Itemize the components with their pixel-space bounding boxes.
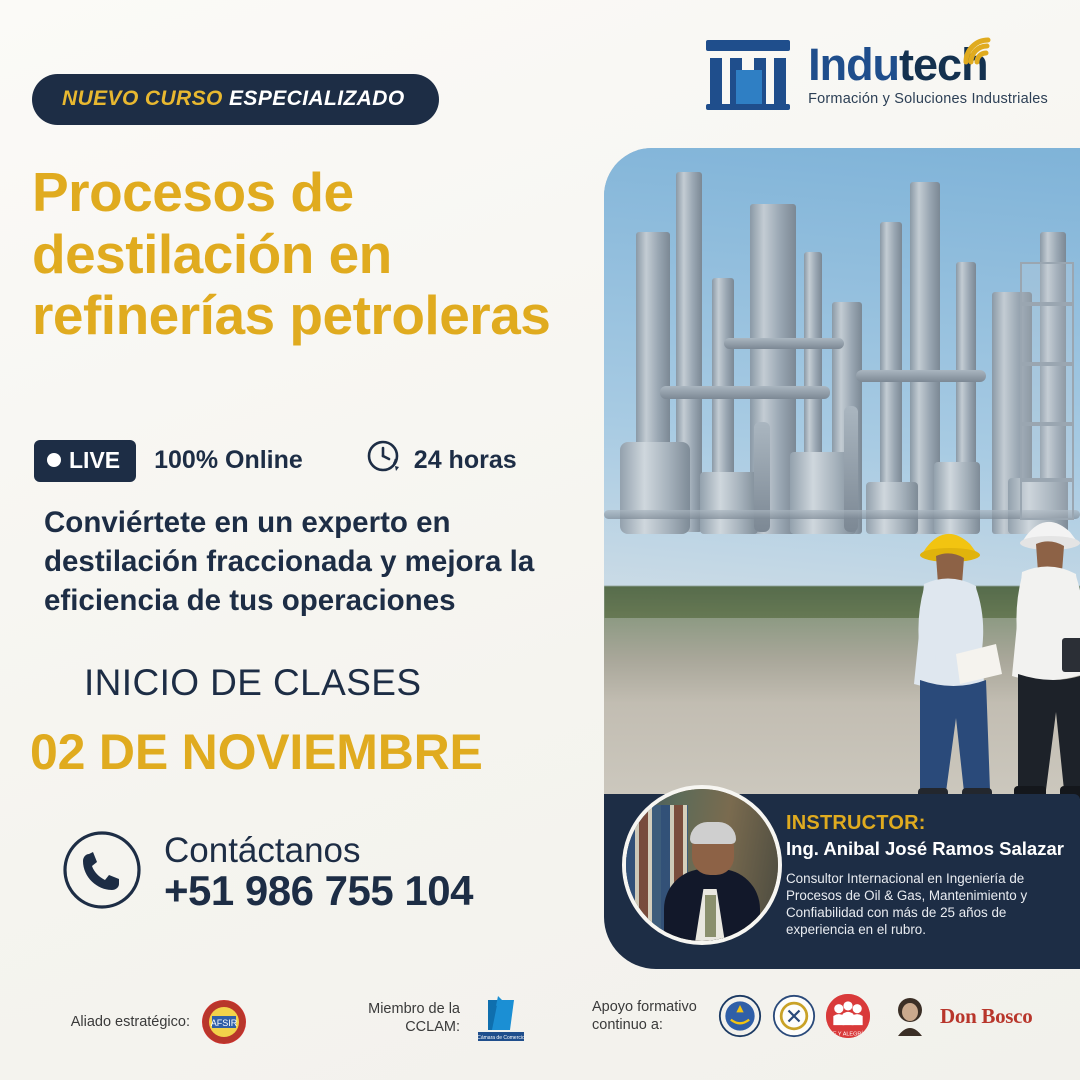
footer-group-ally: Aliado estratégico: AFSIR xyxy=(70,1000,246,1044)
footer-label-member: Miembro de la CCLAM: xyxy=(340,1000,460,1036)
record-dot-icon xyxy=(47,453,61,467)
badge-emphasis: ESPECIALIZADO xyxy=(229,87,405,110)
footer-label-support: Apoyo formativo continuo a: xyxy=(592,998,700,1034)
brand-wordmark: Indutech Formación y Soluciones Industri… xyxy=(808,36,1048,107)
worker-right xyxy=(1002,498,1080,808)
svg-text:AFSIR: AFSIR xyxy=(211,1018,238,1028)
live-badge: LIVE xyxy=(34,440,136,482)
svg-text:FE Y ALEGRÍA: FE Y ALEGRÍA xyxy=(829,1030,866,1037)
footer-group-support: Apoyo formativo continuo a: xyxy=(592,992,1032,1040)
institution-logo-2 xyxy=(772,994,816,1038)
brand-tagline: Formación y Soluciones Industriales xyxy=(808,91,1048,107)
contact-phone[interactable]: +51 986 755 104 xyxy=(164,869,473,914)
instructor-label: INSTRUCTOR: xyxy=(786,812,1064,835)
don-bosco-logo: Don Bosco xyxy=(888,992,1032,1040)
footer-label-ally: Aliado estratégico: xyxy=(70,1013,190,1031)
footer-group-member: Miembro de la CCLAM: Cámara de Comercio xyxy=(340,992,528,1044)
contact-block: Contáctanos +51 986 755 104 xyxy=(62,830,473,915)
wifi-signal-icon xyxy=(962,28,996,73)
duration-info: 24 horas xyxy=(365,437,517,484)
course-meta: LIVE 100% Online 24 horas xyxy=(34,437,517,484)
start-label: INICIO DE CLASES xyxy=(84,662,421,704)
svg-text:Cámara de Comercio: Cámara de Comercio xyxy=(477,1035,525,1041)
course-subheadline: Conviértete en un experto en destilación… xyxy=(44,503,584,621)
pillars-icon xyxy=(702,36,794,110)
worker-left xyxy=(904,508,1014,808)
instructor-description: Consultor Internacional en Ingeniería de… xyxy=(786,871,1064,939)
refinery-photo xyxy=(604,148,1080,808)
afsir-logo: AFSIR xyxy=(202,1000,246,1044)
instructor-avatar xyxy=(622,785,782,945)
institution-logo-1 xyxy=(718,994,762,1038)
online-label: 100% Online xyxy=(154,446,303,475)
don-bosco-label: Don Bosco xyxy=(940,1004,1032,1029)
live-label: LIVE xyxy=(69,447,120,474)
contact-title: Contáctanos xyxy=(164,832,473,869)
brand-logo: Indutech Formación y Soluciones Industri… xyxy=(702,36,1048,110)
instructor-text: INSTRUCTOR: Ing. Anibal José Ramos Salaz… xyxy=(786,812,1064,939)
cclam-logo: Cámara de Comercio xyxy=(472,992,528,1044)
course-poster: Indutech Formación y Soluciones Industri… xyxy=(0,0,1080,1080)
clock-arrow-icon xyxy=(365,437,405,484)
footer-partners: Aliado estratégico: AFSIR Miembro de la … xyxy=(0,968,1080,1080)
badge-prefix: NUEVO CURSO xyxy=(62,87,229,110)
phone-icon xyxy=(62,830,142,915)
start-date: 02 DE NOVIEMBRE xyxy=(30,723,483,781)
brand-name: Indutech xyxy=(808,42,988,87)
duration-label: 24 horas xyxy=(414,446,517,475)
fe-y-alegria-logo: FE Y ALEGRÍA xyxy=(826,994,870,1038)
new-course-badge: NUEVO CURSO ESPECIALIZADO xyxy=(32,74,439,125)
page-title: Procesos de destilación en refinerías pe… xyxy=(32,162,592,347)
brand-name-part1: Indu xyxy=(808,39,899,90)
instructor-name: Ing. Anibal José Ramos Salazar xyxy=(786,838,1064,860)
